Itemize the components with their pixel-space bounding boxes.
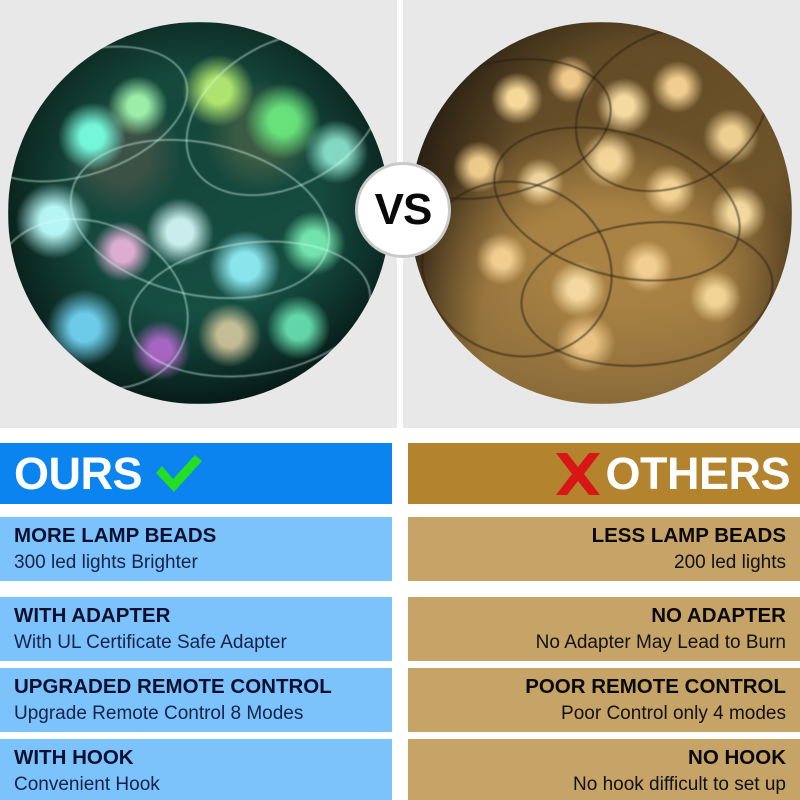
comparison-row: WITH ADAPTER With UL Certificate Safe Ad… bbox=[0, 597, 800, 661]
comparison-row: MORE LAMP BEADS 300 led lights Brighter … bbox=[0, 517, 800, 581]
row-cell-others: NO HOOK No hook difficult to set up bbox=[408, 739, 800, 800]
row-gap bbox=[392, 517, 408, 581]
feature-title: LESS LAMP BEADS bbox=[422, 522, 786, 550]
feature-title: MORE LAMP BEADS bbox=[14, 522, 378, 550]
green-check-icon bbox=[152, 453, 204, 495]
ours-header-label: OURS bbox=[14, 451, 142, 496]
feature-title: NO ADAPTER bbox=[422, 602, 786, 630]
feature-title: UPGRADED REMOTE CONTROL bbox=[14, 673, 378, 701]
red-x-icon bbox=[553, 450, 603, 498]
feature-subtitle: No hook difficult to set up bbox=[422, 772, 786, 798]
feature-subtitle: Convenient Hook bbox=[14, 772, 378, 798]
comparison-table: OURS OTHERS MORE LAMP BEADS 300 led ligh… bbox=[0, 428, 800, 800]
feature-title: WITH ADAPTER bbox=[14, 602, 378, 630]
row-gap bbox=[392, 668, 408, 732]
feature-subtitle: Poor Control only 4 modes bbox=[422, 701, 786, 727]
header-gap bbox=[392, 443, 408, 504]
comparison-row: UPGRADED REMOTE CONTROL Upgrade Remote C… bbox=[0, 668, 800, 732]
warm-white-lights-image bbox=[410, 22, 792, 404]
others-header-label: OTHERS bbox=[605, 451, 790, 496]
row-gap bbox=[392, 739, 408, 800]
feature-title: WITH HOOK bbox=[14, 744, 378, 772]
vs-badge: VS bbox=[355, 162, 451, 258]
comparison-infographic: VS OURS OTHERS MORE LAMP BEADS bbox=[0, 0, 800, 800]
photo-pane-ours bbox=[0, 0, 397, 428]
feature-title: NO HOOK bbox=[422, 744, 786, 772]
feature-title: POOR REMOTE CONTROL bbox=[422, 673, 786, 701]
comparison-header-band: OURS OTHERS bbox=[0, 443, 800, 504]
feature-subtitle: No Adapter May Lead to Burn bbox=[422, 630, 786, 656]
vs-badge-label: VS bbox=[375, 188, 432, 232]
feature-subtitle: 300 led lights Brighter bbox=[14, 550, 378, 576]
header-cell-ours: OURS bbox=[0, 443, 392, 504]
multicolor-led-string-lights-photo bbox=[8, 22, 390, 404]
row-cell-others: POOR REMOTE CONTROL Poor Control only 4 … bbox=[408, 668, 800, 732]
row-cell-ours: WITH HOOK Convenient Hook bbox=[0, 739, 392, 800]
row-cell-others: NO ADAPTER No Adapter May Lead to Burn bbox=[408, 597, 800, 661]
feature-subtitle: Upgrade Remote Control 8 Modes bbox=[14, 701, 378, 727]
row-cell-ours: MORE LAMP BEADS 300 led lights Brighter bbox=[0, 517, 392, 581]
warm-white-led-string-lights-photo bbox=[410, 22, 792, 404]
header-cell-others: OTHERS bbox=[408, 443, 800, 504]
row-cell-ours: WITH ADAPTER With UL Certificate Safe Ad… bbox=[0, 597, 392, 661]
feature-subtitle: With UL Certificate Safe Adapter bbox=[14, 630, 378, 656]
row-cell-ours: UPGRADED REMOTE CONTROL Upgrade Remote C… bbox=[0, 668, 392, 732]
photo-comparison-area: VS bbox=[0, 0, 800, 428]
comparison-row: WITH HOOK Convenient Hook NO HOOK No hoo… bbox=[0, 739, 800, 800]
row-gap bbox=[392, 597, 408, 661]
multicolor-lights-image bbox=[8, 22, 390, 404]
feature-subtitle: 200 led lights bbox=[422, 550, 786, 576]
photo-pane-others bbox=[403, 0, 800, 428]
row-cell-others: LESS LAMP BEADS 200 led lights bbox=[408, 517, 800, 581]
